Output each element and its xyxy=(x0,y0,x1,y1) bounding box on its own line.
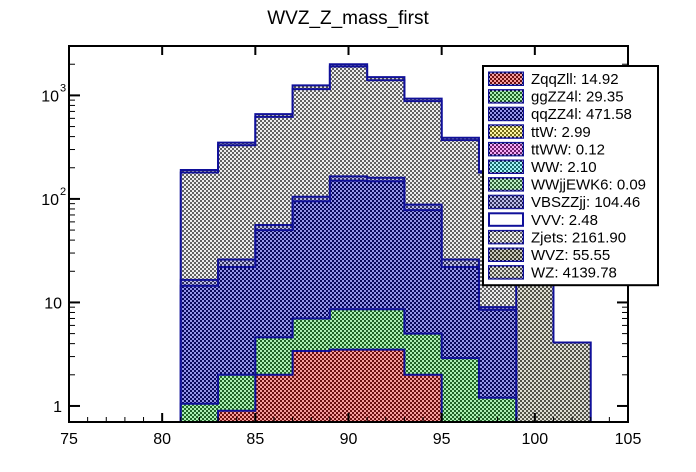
legend-item-ggZZ4l[interactable]: ggZZ4l: 29.35 xyxy=(489,89,624,106)
legend-item-ZqqZll[interactable]: ZqqZll: 14.92 xyxy=(489,71,619,88)
chart-canvas: WVZ_Z_mass_first 7580859095100105 110102… xyxy=(0,0,696,472)
legend-label-VBSZZjj: VBSZZjj: 104.46 xyxy=(531,194,640,211)
legend-swatch-pattern-ggZZ4l xyxy=(489,90,523,103)
bar-pattern-ZqqZll-bin-5 xyxy=(367,350,404,422)
legend-label-WWjjEWK6: WWjjEWK6: 0.09 xyxy=(531,177,646,194)
legend-item-qqZZ4l[interactable]: qqZZ4l: 471.58 xyxy=(489,106,632,123)
legend-label-WW: WW: 2.10 xyxy=(531,159,597,176)
legend-item-ttWW[interactable]: ttWW: 0.12 xyxy=(489,141,605,158)
legend-item-VBSZZjj[interactable]: VBSZZjj: 104.46 xyxy=(489,194,640,211)
x-tick-label-80: 80 xyxy=(153,431,171,448)
legend-label-WZ: WZ: 4139.78 xyxy=(531,265,617,282)
x-tick-label-105: 105 xyxy=(615,431,642,448)
bar-pattern-ZqqZll-bin-4 xyxy=(330,350,367,422)
legend-swatch-VVV xyxy=(489,213,523,226)
bar-pattern-WZ-bin-9 xyxy=(516,274,553,422)
legend-swatch-pattern-WWjjEWK6 xyxy=(489,178,523,191)
bar-pattern-ZqqZll-bin-2 xyxy=(255,375,292,422)
x-tick-label-75: 75 xyxy=(60,431,78,448)
y-tick-label-10: 10 xyxy=(44,295,62,312)
svg-text:1: 1 xyxy=(53,399,62,416)
y-tick-label-1: 1 xyxy=(53,399,62,416)
x-tick-label-90: 90 xyxy=(340,431,358,448)
legend-label-Zjets: Zjets: 2161.90 xyxy=(531,229,626,246)
legend-swatch-pattern-ZqqZll xyxy=(489,73,523,86)
legend-label-qqZZ4l: qqZZ4l: 471.58 xyxy=(531,106,632,123)
legend-label-WVZ: WVZ: 55.55 xyxy=(531,247,610,264)
legend-label-ttWW: ttWW: 0.12 xyxy=(531,141,605,158)
bar-pattern-ZqqZll-bin-3 xyxy=(293,351,330,422)
legend[interactable]: ZqqZll: 14.92ggZZ4l: 29.35qqZZ4l: 471.58… xyxy=(483,66,658,285)
histogram-svg: WVZ_Z_mass_first 7580859095100105 110102… xyxy=(0,0,696,472)
legend-label-ZqqZll: ZqqZll: 14.92 xyxy=(531,71,619,88)
page-title: WVZ_Z_mass_first xyxy=(267,8,429,29)
x-tick-label-95: 95 xyxy=(433,431,451,448)
svg-text:2: 2 xyxy=(60,186,66,198)
legend-item-ttW[interactable]: ttW: 2.99 xyxy=(489,124,591,141)
legend-item-VVV[interactable]: VVV: 2.48 xyxy=(489,212,598,229)
legend-swatch-pattern-WW xyxy=(489,161,523,174)
legend-label-ggZZ4l: ggZZ4l: 29.35 xyxy=(531,89,624,106)
svg-text:3: 3 xyxy=(60,82,66,94)
bar-pattern-ZqqZll-bin-6 xyxy=(404,375,441,422)
legend-label-VVV: VVV: 2.48 xyxy=(531,212,598,229)
svg-text:10: 10 xyxy=(44,295,62,312)
svg-text:10: 10 xyxy=(41,192,59,209)
legend-item-Zjets[interactable]: Zjets: 2161.90 xyxy=(489,229,626,246)
bar-pattern-qqZZ4l-bin-0 xyxy=(181,286,218,422)
legend-swatch-pattern-Zjets xyxy=(489,231,523,244)
x-tick-label-85: 85 xyxy=(246,431,264,448)
bar-pattern-WZ-bin-10 xyxy=(553,343,590,422)
legend-item-WW[interactable]: WW: 2.10 xyxy=(489,159,597,176)
legend-swatch-pattern-WZ xyxy=(489,266,523,279)
legend-label-ttW: ttW: 2.99 xyxy=(531,124,591,141)
legend-swatch-pattern-ttWW xyxy=(489,143,523,156)
legend-item-WZ[interactable]: WZ: 4139.78 xyxy=(489,265,617,282)
legend-item-WWjjEWK6[interactable]: WWjjEWK6: 0.09 xyxy=(489,177,646,194)
legend-swatch-pattern-WVZ xyxy=(489,249,523,262)
legend-swatch-pattern-VBSZZjj xyxy=(489,196,523,209)
legend-swatch-pattern-ttW xyxy=(489,125,523,138)
legend-swatch-pattern-qqZZ4l xyxy=(489,108,523,121)
x-tick-label-100: 100 xyxy=(521,431,548,448)
legend-item-WVZ[interactable]: WVZ: 55.55 xyxy=(489,247,610,264)
bar-pattern-ggZZ4l-bin-7 xyxy=(442,358,479,422)
svg-text:10: 10 xyxy=(41,88,59,105)
